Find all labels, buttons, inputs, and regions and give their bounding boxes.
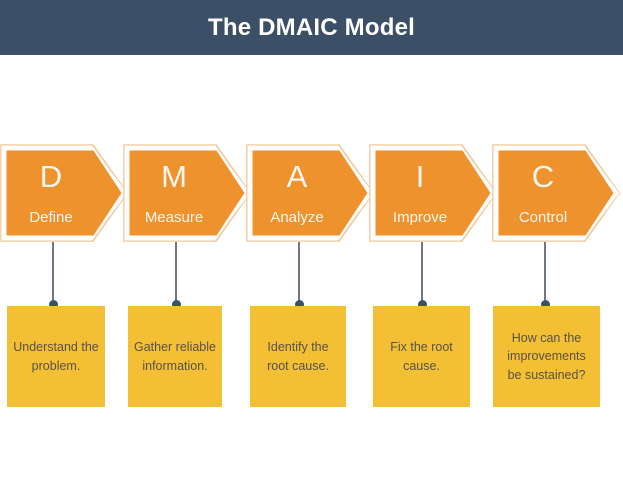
chevron-shape	[0, 144, 128, 242]
page-title: The DMAIC Model	[208, 14, 415, 42]
process-step-m[interactable]: MMeasure	[123, 144, 251, 242]
connector-line	[421, 242, 423, 308]
connector-line	[175, 242, 177, 308]
process-step-c[interactable]: CControl	[492, 144, 620, 242]
header-bar: The DMAIC Model	[0, 0, 623, 55]
chevron-shape	[492, 144, 620, 242]
note-box-a[interactable]: Identify the root cause.	[250, 306, 346, 407]
note-box-c[interactable]: How can the improvements be sustained?	[493, 306, 600, 407]
note-text: Identify the root cause.	[256, 338, 340, 374]
note-box-m[interactable]: Gather reliable information.	[128, 306, 222, 407]
chevron-shape	[123, 144, 251, 242]
chevron-shape	[246, 144, 374, 242]
connector-line	[544, 242, 546, 308]
note-text: Understand the problem.	[13, 338, 99, 374]
process-step-d[interactable]: DDefine	[0, 144, 128, 242]
process-step-i[interactable]: IImprove	[369, 144, 497, 242]
connector-line	[52, 242, 54, 308]
connector-line	[298, 242, 300, 308]
note-box-i[interactable]: Fix the root cause.	[373, 306, 470, 407]
dmaic-diagram-page: The DMAIC Model DDefineUnderstand the pr…	[0, 0, 623, 487]
note-box-d[interactable]: Understand the problem.	[7, 306, 105, 407]
process-step-a[interactable]: AAnalyze	[246, 144, 374, 242]
note-text: Fix the root cause.	[379, 338, 464, 374]
chevron-shape	[369, 144, 497, 242]
note-text: How can the improvements be sustained?	[499, 329, 594, 383]
note-text: Gather reliable information.	[134, 338, 216, 374]
